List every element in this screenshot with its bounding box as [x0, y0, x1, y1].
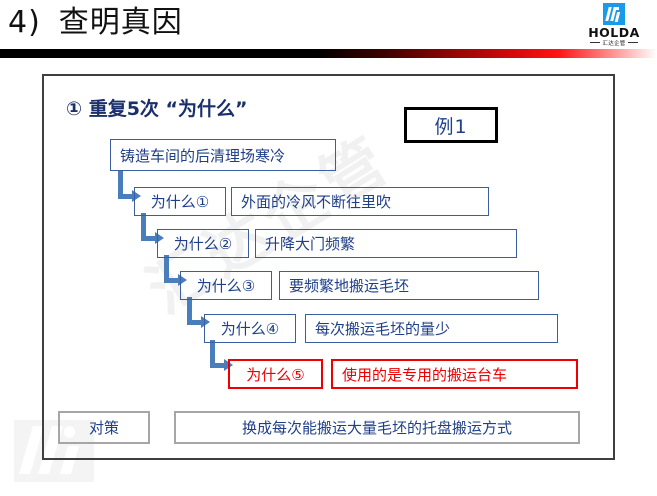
- page-title: 4)查明真因: [8, 2, 183, 44]
- slide-canvas: 4)查明真因 HOLDA 汇达企管 汇达企管 ① 重复5次 “为什么” 例1 铸…: [0, 0, 657, 496]
- why-label-box-4: 为什么④: [204, 314, 296, 343]
- reason-box-1: 外面的冷风不断往里吹: [231, 187, 489, 216]
- countermeasure-label: 对策: [89, 417, 119, 438]
- content-frame: [42, 74, 615, 460]
- why-label-box-5: 为什么⑤: [228, 359, 323, 389]
- reason-box-3: 要频繁地搬运毛坯: [279, 271, 539, 300]
- logo-subtext-label: 汇达企管: [602, 41, 625, 47]
- section-heading: ① 重复5次 “为什么”: [66, 96, 248, 122]
- company-logo: HOLDA 汇达企管: [577, 3, 651, 49]
- why-label-1: 为什么①: [151, 191, 209, 212]
- why-label-3: 为什么③: [197, 275, 255, 296]
- why-label-2: 为什么②: [174, 233, 232, 254]
- holda-mark-icon: [603, 3, 625, 25]
- reason-box-2: 升降大门频繁: [255, 229, 517, 258]
- why-label-box-2: 为什么②: [157, 229, 249, 258]
- reason-label-4: 每次搬运毛坯的量少: [306, 318, 450, 339]
- why-label-5: 为什么⑤: [246, 364, 304, 385]
- logo-subtext: 汇达企管: [577, 40, 651, 48]
- page-title-index: 4): [8, 2, 41, 44]
- why-label-box-1: 为什么①: [134, 187, 226, 216]
- root-problem-box: 铸造车间的后清理场寒冷: [110, 139, 336, 171]
- reason-label-5: 使用的是专用的搬运台车: [333, 364, 507, 385]
- why-label-box-3: 为什么③: [180, 271, 272, 300]
- countermeasure-text-box: 换成每次能搬运大量毛坯的托盘搬运方式: [174, 411, 580, 444]
- reason-box-5: 使用的是专用的搬运台车: [331, 359, 578, 389]
- example-badge: 例1: [404, 107, 498, 143]
- header-divider-bar: [0, 49, 657, 58]
- page-title-text: 查明真因: [59, 5, 183, 40]
- reason-box-4: 每次搬运毛坯的量少: [305, 314, 558, 343]
- reason-label-2: 升降大门频繁: [256, 233, 355, 254]
- reason-label-1: 外面的冷风不断往里吹: [232, 191, 391, 212]
- countermeasure-text: 换成每次能搬运大量毛坯的托盘搬运方式: [242, 417, 512, 438]
- slide-header: 4)查明真因 HOLDA 汇达企管: [0, 0, 657, 60]
- root-problem-label: 铸造车间的后清理场寒冷: [111, 145, 285, 166]
- countermeasure-label-box: 对策: [58, 411, 150, 444]
- why-label-4: 为什么④: [221, 318, 279, 339]
- example-badge-label: 例1: [434, 112, 467, 139]
- logo-wordmark: HOLDA: [577, 26, 651, 40]
- reason-label-3: 要频繁地搬运毛坯: [280, 275, 409, 296]
